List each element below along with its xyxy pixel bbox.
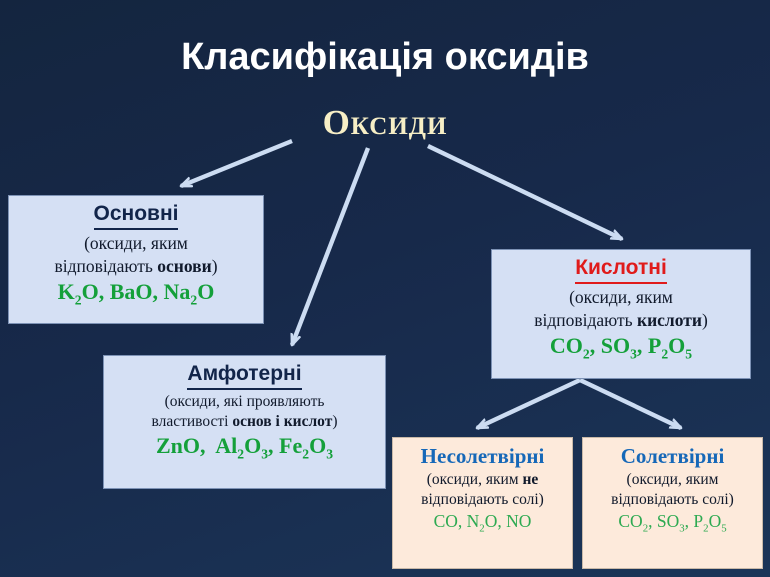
- node-basic-description: (оксиди, яким відповідають основи): [15, 232, 257, 278]
- node-salt-formulas: CO2, SO3, P2O5: [589, 511, 756, 535]
- node-salt-forming-oxides[interactable]: Солетвірні (оксиди, яким відповідають со…: [582, 437, 763, 569]
- arrow-acidic-to-salt: [580, 380, 681, 428]
- node-amphoteric-oxides[interactable]: Амфотерні (оксиди, які проявляють власти…: [103, 355, 386, 489]
- node-basic-desc-bold: основи: [157, 256, 211, 276]
- node-nonsalt-desc-line2: відповідають солі): [399, 490, 566, 510]
- node-nonsalt-description: (оксиди, яким не відповідають солі): [399, 470, 566, 510]
- slide-canvas: Класифікація оксидів Оксиди Основні (окс…: [0, 0, 770, 577]
- node-amphoteric-desc-post: ): [332, 413, 337, 430]
- node-amphoteric-title: Амфотерні: [187, 362, 301, 390]
- node-amphoteric-desc-line1: (оксиди, які проявляють: [110, 392, 379, 412]
- node-basic-desc-line2: відповідають основи): [15, 255, 257, 278]
- arrow-root-to-amphoteric: [292, 148, 368, 345]
- node-nonsalt-desc-pre: (оксиди, яким: [427, 471, 523, 488]
- node-basic-formulas: K2O, BaO, Na2O: [15, 279, 257, 308]
- node-basic-oxides[interactable]: Основні (оксиди, яким відповідають основ…: [8, 195, 264, 324]
- node-acidic-desc-line1: (оксиди, яким: [498, 286, 744, 309]
- node-salt-description: (оксиди, яким відповідають солі): [589, 470, 756, 510]
- node-acidic-desc-line2: відповідають кислоти): [498, 309, 744, 332]
- node-acidic-formulas: CO2, SO3, P2O5: [498, 333, 744, 362]
- arrow-root-to-acidic: [428, 146, 622, 239]
- node-acidic-description: (оксиди, яким відповідають кислоти): [498, 286, 744, 332]
- node-amphoteric-desc-line2: властивості основ і кислот): [110, 412, 379, 432]
- node-basic-desc-post: ): [212, 256, 218, 276]
- node-amphoteric-desc-bold: основ і кислот: [232, 413, 332, 430]
- node-amphoteric-description: (оксиди, які проявляють властивості осно…: [110, 392, 379, 432]
- node-nonsalt-formulas: CO, N2O, NO: [399, 511, 566, 535]
- arrow-acidic-to-nonsalt: [477, 380, 580, 428]
- node-acidic-title: Кислотні: [575, 256, 667, 284]
- node-acidic-oxides[interactable]: Кислотні (оксиди, яким відповідають кисл…: [491, 249, 751, 379]
- node-nonsalt-forming-oxides[interactable]: Несолетвірні (оксиди, яким не відповідаю…: [392, 437, 573, 569]
- node-basic-title: Основні: [94, 202, 179, 230]
- node-salt-desc-line1: (оксиди, яким: [589, 470, 756, 490]
- node-amphoteric-desc-pre: властивості: [152, 413, 233, 430]
- node-acidic-desc-pre: відповідають: [534, 310, 637, 330]
- node-salt-title: Солетвірні: [621, 444, 725, 470]
- node-nonsalt-desc-line1: (оксиди, яким не: [399, 470, 566, 490]
- node-basic-desc-line1: (оксиди, яким: [15, 232, 257, 255]
- node-salt-desc-line2: відповідають солі): [589, 490, 756, 510]
- node-basic-desc-pre: відповідають: [54, 256, 157, 276]
- node-nonsalt-title: Несолетвірні: [421, 444, 545, 470]
- node-acidic-desc-bold: кислоти: [637, 310, 702, 330]
- node-acidic-desc-post: ): [702, 310, 708, 330]
- node-nonsalt-desc-bold: не: [523, 471, 539, 488]
- arrow-root-to-basic: [181, 141, 292, 186]
- node-amphoteric-formulas: ZnO, Al2O3, Fe2O3: [110, 433, 379, 462]
